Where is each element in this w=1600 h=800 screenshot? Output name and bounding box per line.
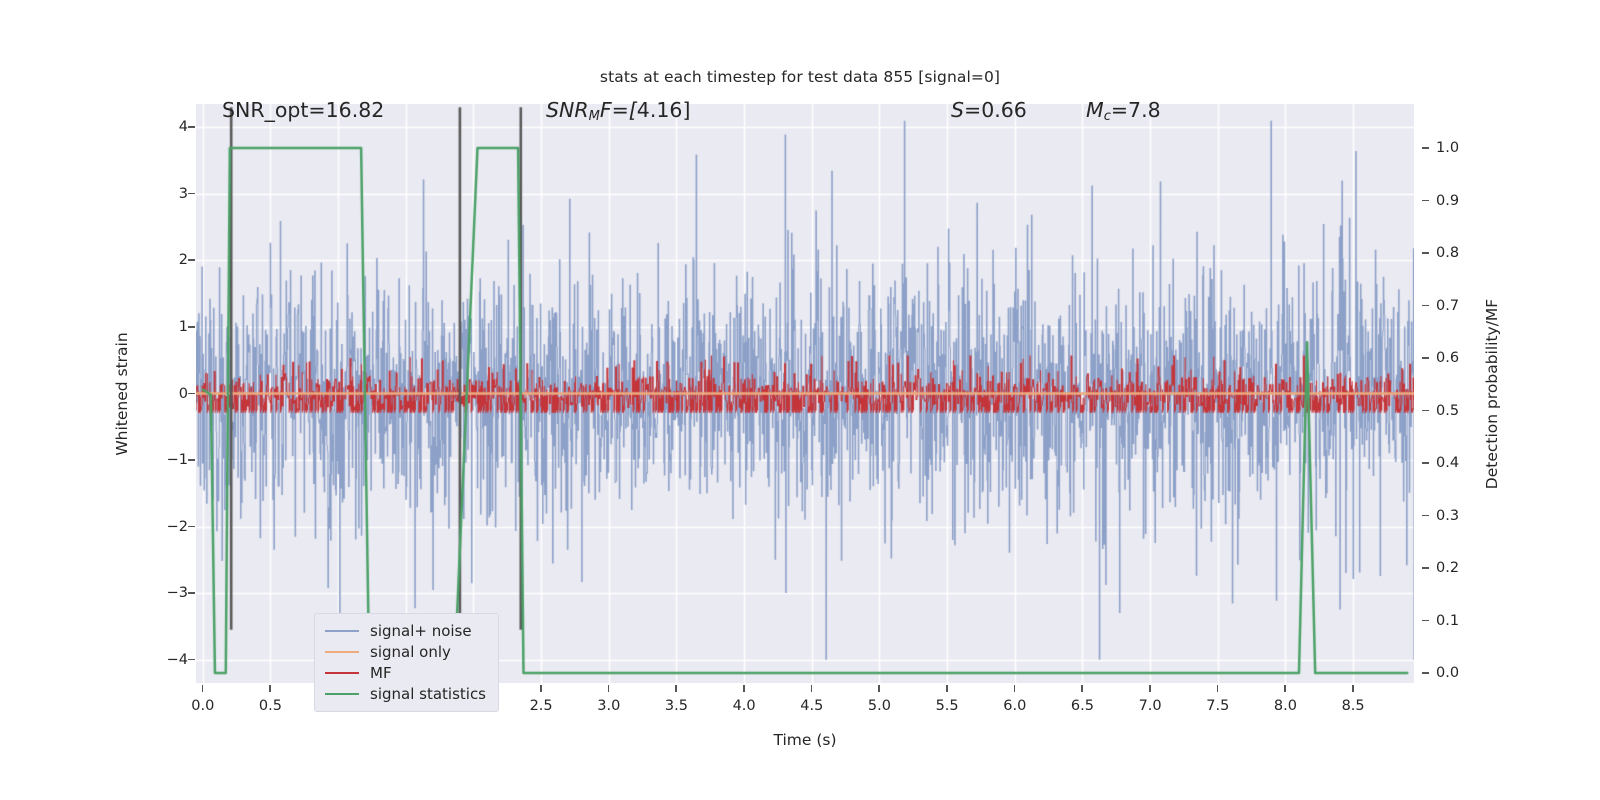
legend-label: MF: [370, 664, 392, 682]
legend-label: signal+ noise: [370, 622, 472, 640]
x-tick-mark: [1081, 685, 1083, 692]
y-tick-label-left: −2: [167, 519, 188, 535]
x-tick-label: 0.0: [191, 698, 214, 714]
x-tick-mark: [608, 685, 610, 692]
y-tick-label-left: 2: [179, 252, 188, 268]
x-tick-mark: [1014, 685, 1016, 692]
y-tick-mark-left: [188, 393, 195, 395]
legend-swatch-icon: [325, 672, 359, 674]
plot-canvas[interactable]: [196, 104, 1414, 683]
y-tick-mark-left: [188, 659, 195, 661]
y-tick-mark-right: [1422, 672, 1429, 674]
y-tick-label-left: 0: [179, 386, 188, 402]
x-tick-label: 0.5: [259, 698, 282, 714]
x-tick-label: 8.5: [1342, 698, 1365, 714]
x-tick-label: 6.5: [1071, 698, 1094, 714]
x-tick-label: 8.0: [1274, 698, 1297, 714]
legend[interactable]: signal+ noisesignal onlyMFsignal statist…: [314, 613, 499, 712]
x-tick-label: 4.5: [800, 698, 823, 714]
y-tick-mark-left: [188, 259, 195, 261]
y-tick-label-right: 0.8: [1436, 245, 1459, 261]
legend-item-2[interactable]: MF: [325, 662, 486, 683]
x-tick-label: 5.5: [936, 698, 959, 714]
y-tick-label-left: −4: [167, 652, 188, 668]
y-tick-mark-right: [1422, 357, 1429, 359]
y-tick-mark-left: [188, 126, 195, 128]
y-tick-mark-right: [1422, 515, 1429, 517]
y-tick-label-right: 0.1: [1436, 613, 1459, 629]
legend-item-3[interactable]: signal statistics: [325, 683, 486, 704]
y-tick-label-left: 4: [179, 119, 188, 135]
x-tick-mark: [946, 685, 948, 692]
y-tick-label-left: 1: [179, 319, 188, 335]
y-tick-label-right: 0.3: [1436, 508, 1459, 524]
x-tick-mark: [202, 685, 204, 692]
y-tick-label-right: 0.4: [1436, 455, 1459, 471]
y-tick-mark-right: [1422, 410, 1429, 412]
x-tick-label: 5.0: [868, 698, 891, 714]
y-tick-mark-left: [188, 193, 195, 195]
x-tick-mark: [743, 685, 745, 692]
legend-label: signal statistics: [370, 685, 486, 703]
x-tick-mark: [1149, 685, 1151, 692]
x-tick-mark: [811, 685, 813, 692]
y-tick-mark-right: [1422, 200, 1429, 202]
legend-swatch-icon: [325, 693, 359, 695]
y-tick-label-right: 0.0: [1436, 665, 1459, 681]
x-tick-label: 6.0: [1003, 698, 1026, 714]
legend-swatch-icon: [325, 630, 359, 632]
plot-area[interactable]: [196, 104, 1414, 683]
y-tick-label-right: 0.6: [1436, 350, 1459, 366]
legend-label: signal only: [370, 643, 451, 661]
y-tick-label-right: 0.5: [1436, 403, 1459, 419]
x-tick-label: 3.5: [665, 698, 688, 714]
y-tick-label-right: 0.2: [1436, 560, 1459, 576]
y-tick-mark-left: [188, 592, 195, 594]
y-tick-label-right: 0.9: [1436, 193, 1459, 209]
x-axis-label: Time (s): [773, 731, 836, 749]
y-tick-mark-right: [1422, 567, 1429, 569]
y-tick-mark-left: [188, 326, 195, 328]
y-tick-label-left: −3: [167, 585, 188, 601]
y-tick-label-left: −1: [167, 452, 188, 468]
x-tick-label: 2.5: [530, 698, 553, 714]
x-tick-mark: [675, 685, 677, 692]
y-tick-mark-right: [1422, 305, 1429, 307]
y-tick-label-left: 3: [179, 186, 188, 202]
x-tick-label: 7.0: [1139, 698, 1162, 714]
y-tick-label-right: 0.7: [1436, 298, 1459, 314]
x-tick-mark: [269, 685, 271, 692]
x-tick-mark: [540, 685, 542, 692]
y-axis-label-left: Whitened strain: [113, 332, 131, 455]
legend-item-1[interactable]: signal only: [325, 641, 486, 662]
y-tick-label-right: 1.0: [1436, 140, 1459, 156]
y-tick-mark-right: [1422, 252, 1429, 254]
x-tick-mark: [1217, 685, 1219, 692]
figure-root: stats at each timestep for test data 855…: [0, 0, 1600, 800]
x-tick-label: 7.5: [1206, 698, 1229, 714]
legend-swatch-icon: [325, 651, 359, 653]
x-tick-mark: [1284, 685, 1286, 692]
y-tick-mark-left: [188, 526, 195, 528]
x-tick-label: 4.0: [733, 698, 756, 714]
y-axis-label-right: Detection probability/MF: [1483, 299, 1501, 489]
figure-title: stats at each timestep for test data 855…: [0, 68, 1600, 86]
x-tick-mark: [1352, 685, 1354, 692]
legend-item-0[interactable]: signal+ noise: [325, 620, 486, 641]
y-tick-mark-right: [1422, 620, 1429, 622]
y-tick-mark-right: [1422, 462, 1429, 464]
y-tick-mark-right: [1422, 147, 1429, 149]
x-tick-label: 3.0: [597, 698, 620, 714]
y-tick-mark-left: [188, 459, 195, 461]
x-tick-mark: [878, 685, 880, 692]
